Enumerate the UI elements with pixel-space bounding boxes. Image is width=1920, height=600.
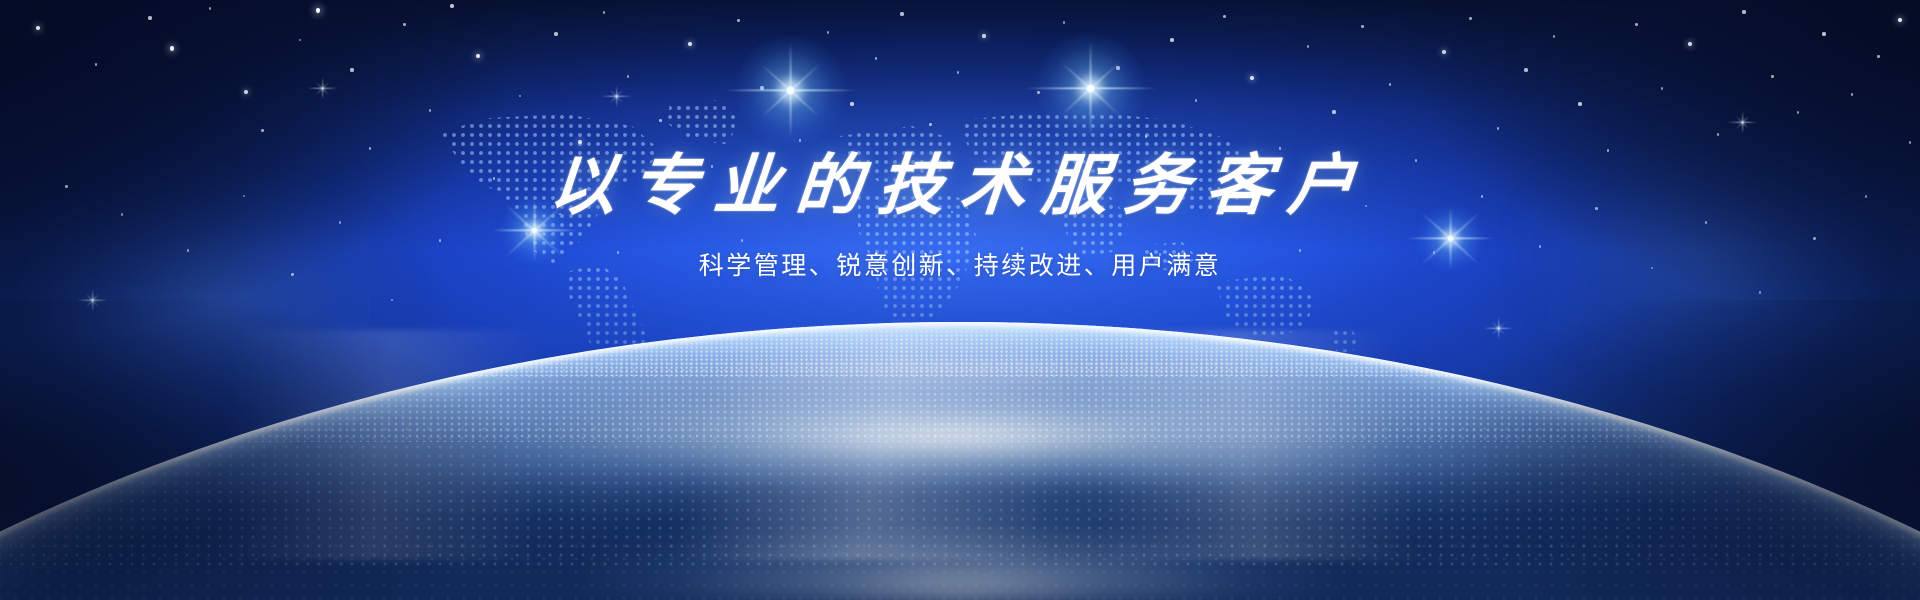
star <box>1553 35 1556 38</box>
star <box>827 31 830 34</box>
sparkle <box>322 88 323 89</box>
lens-flare-star <box>1090 88 1091 89</box>
star <box>850 102 853 106</box>
star <box>737 19 740 22</box>
star <box>170 46 174 51</box>
earth-atmosphere-glow <box>0 300 1920 484</box>
star <box>1361 25 1364 28</box>
star <box>1469 17 1472 20</box>
lens-flare-star <box>534 230 535 231</box>
star <box>1063 21 1066 24</box>
banner-subtitle: 科学管理、锐意创新、持续改进、用户满意 <box>0 250 1920 283</box>
star <box>1688 42 1692 46</box>
star <box>1661 87 1664 90</box>
star <box>1442 50 1446 54</box>
star <box>450 4 453 8</box>
star <box>1170 38 1173 42</box>
star <box>1759 291 1762 294</box>
hero-banner: 以专业的技术服务客户 科学管理、锐意创新、持续改进、用户满意 <box>0 0 1920 600</box>
earth-horizon <box>0 300 1920 600</box>
star <box>627 75 630 78</box>
star <box>1223 15 1226 18</box>
star <box>1705 221 1708 224</box>
star <box>1307 45 1310 48</box>
lens-flare-star <box>790 90 791 91</box>
star <box>1771 75 1774 78</box>
star <box>261 129 264 132</box>
star <box>369 147 372 150</box>
star <box>1717 133 1720 136</box>
star <box>900 12 903 16</box>
star <box>209 7 212 10</box>
star <box>36 26 40 30</box>
star <box>244 90 248 94</box>
star <box>1524 68 1527 72</box>
flare-core <box>1446 234 1454 242</box>
star <box>659 119 662 122</box>
star <box>316 8 321 13</box>
star <box>1250 76 1254 80</box>
star <box>929 123 932 126</box>
star <box>403 23 406 26</box>
star <box>603 11 606 14</box>
star <box>299 39 301 42</box>
flare-core <box>784 84 796 96</box>
star <box>1813 237 1816 240</box>
sparkle <box>1742 122 1743 123</box>
star <box>429 109 432 112</box>
flare-core <box>530 226 538 234</box>
star <box>1332 110 1335 114</box>
star <box>1195 99 1198 102</box>
star <box>1877 55 1880 58</box>
lens-flare-star <box>1450 238 1451 239</box>
star <box>95 63 98 66</box>
star <box>554 32 557 36</box>
star <box>1497 127 1500 130</box>
star <box>350 68 353 72</box>
star <box>1898 18 1902 22</box>
star <box>1539 245 1542 248</box>
star <box>519 95 521 98</box>
star <box>1578 102 1581 106</box>
star <box>957 71 960 74</box>
banner-headline: 以专业的技术服务客户 <box>0 152 1920 218</box>
star <box>688 42 692 46</box>
star <box>1389 83 1392 86</box>
sparkle <box>616 96 617 97</box>
star <box>476 54 480 58</box>
star <box>741 239 744 242</box>
star <box>1742 10 1745 14</box>
star <box>1145 135 1148 138</box>
star <box>1635 23 1638 26</box>
flare-core <box>1084 82 1096 94</box>
star <box>148 16 151 20</box>
star <box>1797 111 1800 114</box>
star <box>1909 141 1912 144</box>
star <box>1822 32 1825 36</box>
star <box>578 140 582 144</box>
star <box>339 221 342 224</box>
star <box>875 57 878 60</box>
star <box>439 239 442 242</box>
star <box>982 34 986 38</box>
star <box>1851 93 1854 96</box>
